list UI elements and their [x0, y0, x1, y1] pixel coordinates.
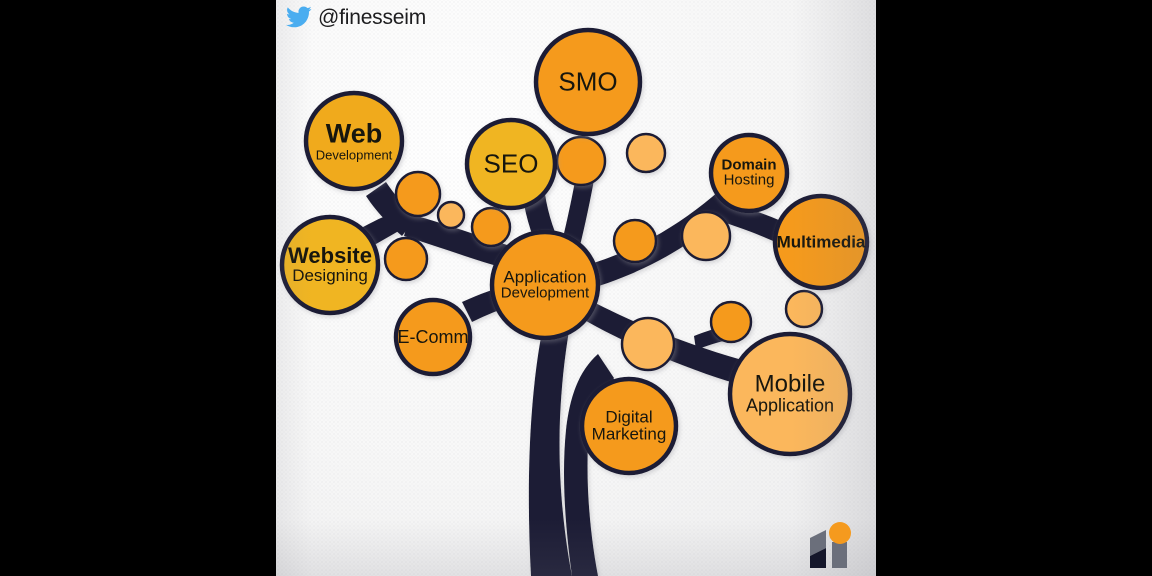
decor-leaf-j[interactable]: [786, 291, 822, 327]
twitter-handle[interactable]: @finesseim: [286, 6, 426, 28]
node-web-development-label[interactable]: WebDevelopment: [316, 121, 393, 162]
node-smo-label-line1: SMO: [558, 69, 617, 96]
decor-leaf-k[interactable]: [622, 318, 674, 370]
company-logo: [802, 516, 860, 572]
node-seo-label-line1: SEO: [484, 151, 539, 178]
node-web-development-label-line1: Web: [316, 121, 393, 149]
node-domain-hosting-label-line1: Domain: [721, 158, 776, 173]
node-mobile-application-label[interactable]: MobileApplication: [746, 373, 834, 416]
node-seo-label[interactable]: SEO: [484, 151, 539, 178]
node-application-development-label-line1: Application: [501, 269, 589, 286]
decor-leaf-f[interactable]: [627, 134, 665, 172]
node-digital-marketing-label-line1: Digital: [592, 409, 667, 426]
node-domain-hosting-label-line2: Hosting: [721, 173, 776, 188]
decor-leaf-b[interactable]: [438, 202, 464, 228]
node-e-comm-label-line1: E-Comm: [398, 328, 469, 346]
decor-leaf-i[interactable]: [711, 302, 751, 342]
decor-leaf-g[interactable]: [614, 220, 656, 262]
decor-leaf-c[interactable]: [385, 238, 427, 280]
twitter-handle-text: @finesseim: [318, 7, 426, 28]
letterbox-left: [0, 0, 276, 576]
letterbox-right: [876, 0, 1152, 576]
node-smo-label[interactable]: SMO: [558, 69, 617, 96]
node-web-development-label-line2: Development: [316, 148, 393, 161]
node-website-designing-label[interactable]: WebsiteDesigning: [288, 245, 372, 285]
infographic-canvas: @finesseim: [276, 0, 876, 576]
node-website-designing-label-line1: Website: [288, 245, 372, 267]
node-application-development-label[interactable]: ApplicationDevelopment: [501, 269, 589, 302]
node-mobile-application-label-line1: Mobile: [746, 373, 834, 397]
node-domain-hosting-label[interactable]: DomainHosting: [721, 158, 776, 189]
decor-leaf-h[interactable]: [682, 212, 730, 260]
node-website-designing-label-line2: Designing: [288, 268, 372, 285]
node-mobile-application-label-line2: Application: [746, 397, 834, 415]
node-application-development-label-line2: Development: [501, 286, 589, 301]
logo-dot-orange: [829, 522, 851, 544]
node-multimedia-label[interactable]: Multimedia: [777, 233, 866, 250]
decor-leaf-e[interactable]: [557, 137, 605, 185]
node-e-comm-label[interactable]: E-Comm: [398, 328, 469, 346]
node-digital-marketing-label-line2: Marketing: [592, 426, 667, 443]
logo-bar-right-gray: [832, 542, 847, 568]
decor-leaf-a[interactable]: [396, 172, 440, 216]
node-multimedia-label-line1: Multimedia: [777, 233, 866, 250]
screenshot-stage: @finesseim: [0, 0, 1152, 576]
twitter-bird-icon: [286, 6, 312, 28]
decor-leaf-d[interactable]: [472, 208, 510, 246]
node-digital-marketing-label[interactable]: DigitalMarketing: [592, 409, 667, 444]
